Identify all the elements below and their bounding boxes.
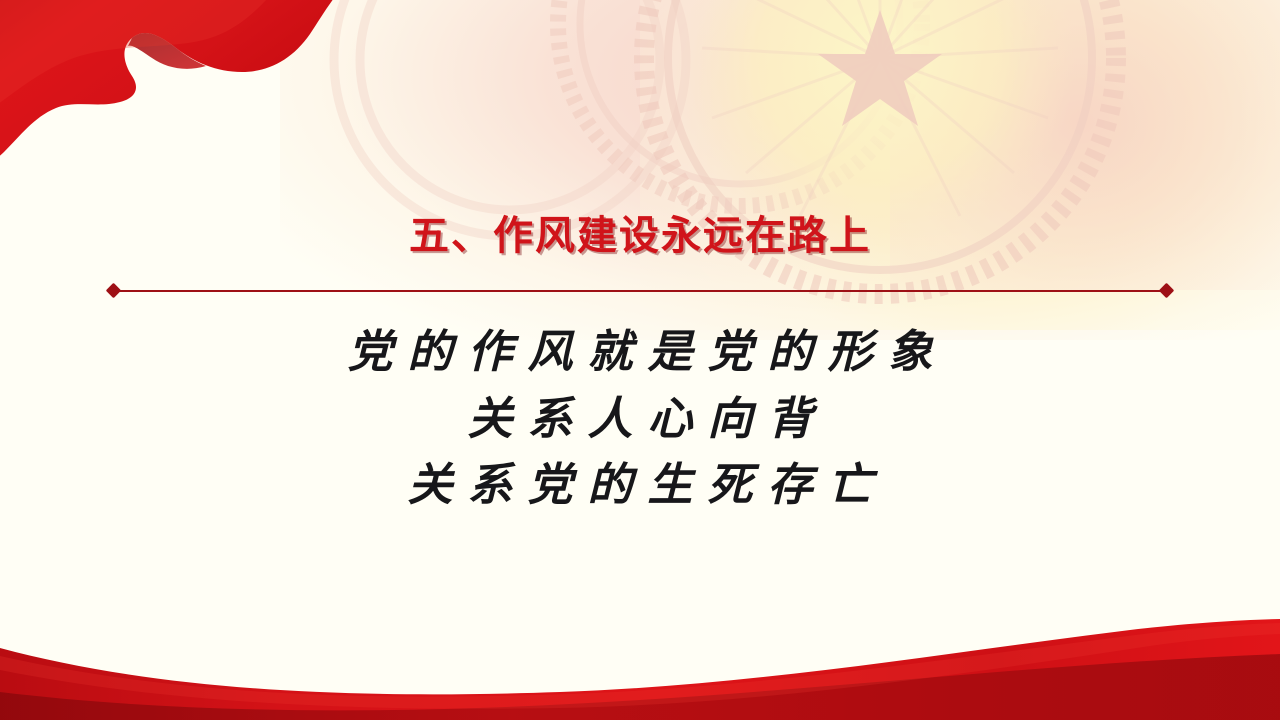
diamond-marker — [1159, 283, 1175, 299]
presentation-slide: 五、作风建设永远在路上 党的作风就是党的形象 关系人心向背 关系党的生死存亡 — [0, 0, 1280, 720]
body-text-block: 党的作风就是党的形象 关系人心向背 关系党的生死存亡 — [0, 319, 1280, 519]
body-line: 关系党的生死存亡 — [392, 452, 887, 519]
divider-line — [114, 290, 1166, 292]
body-line: 关系人心向背 — [452, 386, 827, 453]
slide-content: 五、作风建设永远在路上 党的作风就是党的形象 关系人心向背 关系党的生死存亡 — [0, 0, 1280, 720]
body-line: 党的作风就是党的形象 — [332, 319, 947, 386]
page-title: 五、作风建设永远在路上 — [409, 203, 871, 261]
divider — [108, 285, 1172, 297]
